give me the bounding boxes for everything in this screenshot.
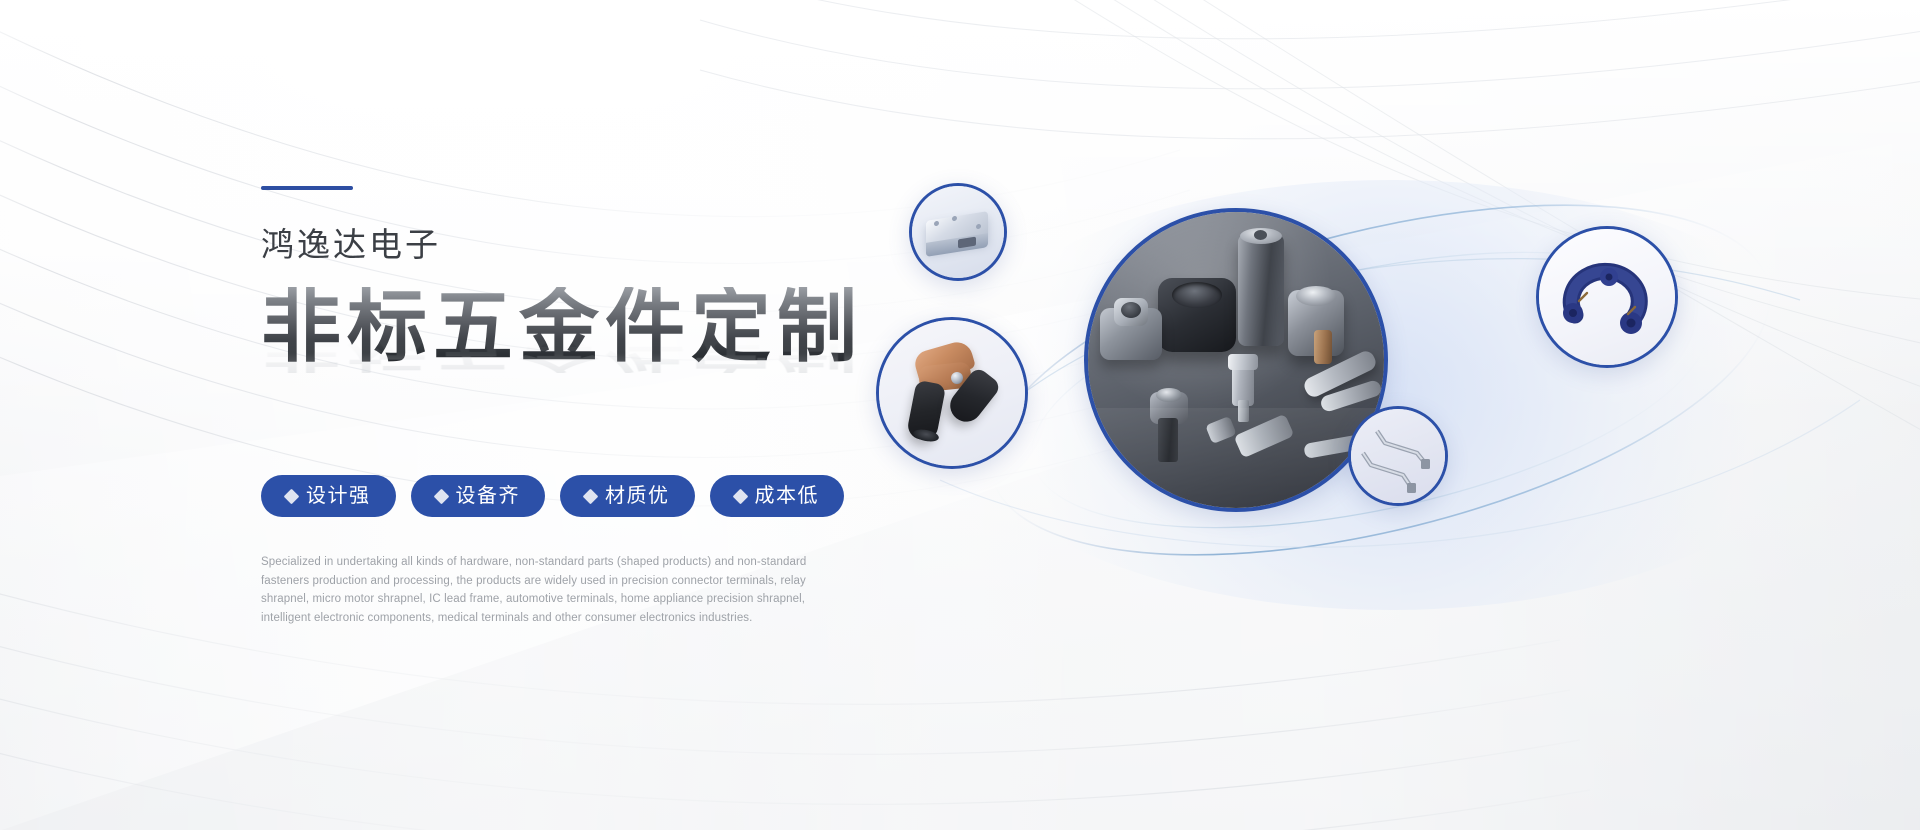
- product-node-metal-enclosure[interactable]: [909, 183, 1007, 281]
- diamond-icon: [583, 488, 599, 504]
- diamond-icon: [433, 488, 449, 504]
- feature-badge-design[interactable]: 设计强: [261, 475, 396, 517]
- accent-rule: [261, 186, 353, 190]
- product-photo-machined-parts: [1088, 212, 1384, 508]
- feature-badge-label: 设备齐: [456, 486, 521, 506]
- product-node-machined-parts[interactable]: [1084, 208, 1388, 512]
- hero-copy-block: 鸿逸达电子 非标五金件定制 非标五金件定制 设计强 设备齐 材质优 成本低: [261, 186, 961, 628]
- feature-badge-list: 设计强 设备齐 材质优 成本低: [261, 475, 961, 517]
- product-photo-terminal-pins: [1351, 409, 1445, 503]
- product-showcase: [900, 150, 1880, 620]
- hero-banner: 鸿逸达电子 非标五金件定制 非标五金件定制 设计强 设备齐 材质优 成本低: [0, 0, 1920, 830]
- company-name: 鸿逸达电子: [261, 228, 961, 261]
- product-photo-retaining-ring: [1539, 229, 1675, 365]
- product-photo-metal-enclosure: [912, 186, 1004, 278]
- feature-badge-label: 设计强: [306, 486, 371, 506]
- product-photo-copper-clamp: [879, 320, 1025, 466]
- page-title: 非标五金件定制: [261, 287, 961, 367]
- feature-badge-label: 成本低: [755, 486, 820, 506]
- diamond-icon: [284, 488, 300, 504]
- feature-badge-equipment[interactable]: 设备齐: [411, 475, 546, 517]
- feature-badge-cost[interactable]: 成本低: [710, 475, 845, 517]
- product-node-terminal-pins[interactable]: [1348, 406, 1448, 506]
- diamond-icon: [732, 488, 748, 504]
- headline-group: 非标五金件定制 非标五金件定制: [261, 287, 961, 423]
- company-description: Specialized in undertaking all kinds of …: [261, 553, 846, 628]
- product-node-copper-clamp[interactable]: [876, 317, 1028, 469]
- orbit-arcs: [900, 150, 1880, 620]
- feature-badge-material[interactable]: 材质优: [560, 475, 695, 517]
- product-node-retaining-ring[interactable]: [1536, 226, 1678, 368]
- feature-badge-label: 材质优: [605, 486, 670, 506]
